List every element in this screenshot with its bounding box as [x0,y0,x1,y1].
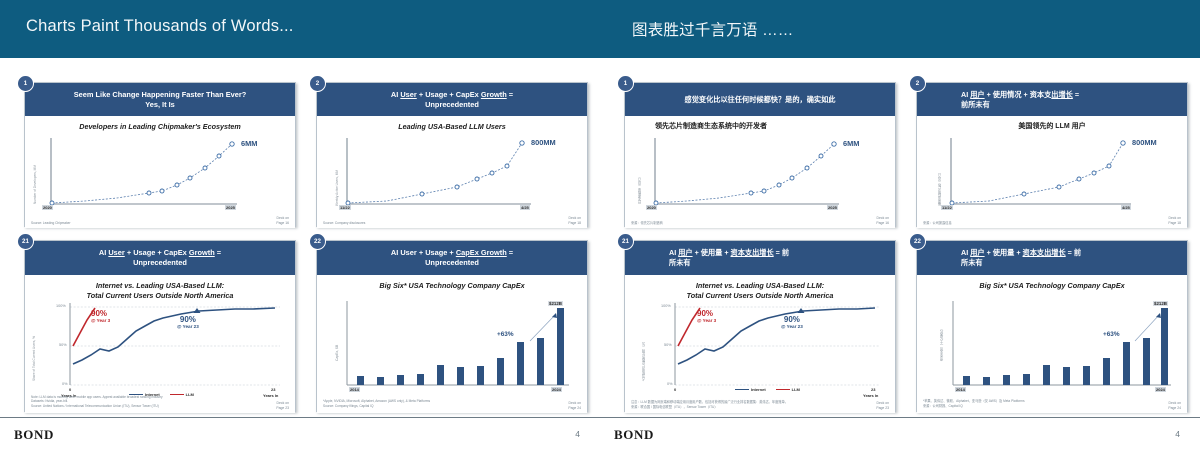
headline-part-mid: + 使用量 + [985,248,1023,257]
source-line2: Datasets: Nvidia, year-bill. [31,399,68,403]
annotation-subtext: @ Year 23 [177,324,199,329]
slide-headline-line2: Yes, It Is [145,100,175,109]
x-axis-start-tick: 2014 [955,387,966,392]
headline-part-post: = [507,90,513,99]
thumbnail-slide-1[interactable]: 1 Seem Like Change Happening Faster Than… [24,82,296,227]
x-axis-label-right: Years In [863,393,878,398]
headline-part-post: = [507,248,513,257]
annotation-internet-90pct: 90% @ Year 23 [781,315,803,329]
page-number: 4 [1175,429,1180,439]
headline-part-post: = [1073,90,1079,99]
deck-ref-line2: Page 24 [568,406,581,410]
headline-underline-2: 出增长 [1051,90,1073,99]
annotation-value: 90% [697,309,716,318]
y-tick-100: 100% [56,304,66,308]
source-line3: Source: United Nations / International T… [31,404,159,408]
annotation-internet-90pct: 90% @ Year 23 [177,315,199,329]
x-axis-label-right: Years In [263,393,278,398]
y-tick-50: 50% [664,343,672,347]
slide-headline: AI User + Usage + CapEx Growth = Unprece… [391,248,513,268]
slide-headline: 感觉变化比以往任何时候都快？是的，确实如此 [685,95,836,105]
deck-reference: Deck on Page 16 [276,216,289,226]
bar-value-label: $212B [548,301,563,306]
slide-badge: 2 [910,76,925,91]
x-axis-start-tick: 2014 [349,387,360,392]
growth-annotation: +63% [1103,331,1120,338]
slide-headline-line2: Unprecedented [425,258,479,267]
slide-header: AI 用户 + 使用量 + 资本支出增长 = 前 所未有 [625,241,895,275]
deck-ref-line1: Deck on [877,216,889,220]
slide-headline-line1: Seem Like Change Happening Faster Than E… [74,90,247,99]
slide-body: Internet vs. Leading USA-Based LLM: Tota… [25,275,295,413]
x-axis-end-tick: 4/25 [1121,205,1131,210]
headline-underline-2: 资本支出增长 [731,248,774,257]
headline-underline-1: 用户 [970,90,984,99]
page-banner-english: Charts Paint Thousands of Words... [0,0,600,58]
headline-underline-2: Growth [481,90,507,99]
deck-ref-line2: Page 16 [276,221,289,225]
x-axis-start-tick: 0 [674,387,676,392]
slide-headline-line2: 所未有 [669,258,691,267]
slide-badge: 22 [910,234,925,249]
x-axis-end-tick: 23 [271,387,275,392]
headline-part-pre: AI [669,248,678,257]
slide-body: Developers in Leading Chipmaker's Ecosys… [25,116,295,228]
deck-ref-line2: Page 18 [568,221,581,225]
slide-headline: AI 用户 + 使用量 + 资本支出增长 = 前 所未有 [641,248,879,267]
annotation-subtext: @ Year 23 [781,324,803,329]
source-line1: *Apple, NVIDIA, Microsoft, Alphabet, Ama… [323,399,430,403]
slide-body: Big Six* USA Technology Company CapEx 资本… [917,275,1187,413]
x-axis-end-tick: 23 [871,387,875,392]
page-footer-chinese: BOND 4 [600,417,1200,449]
source-line1: *苹果、英伟达、微软、Alphabet、亚马逊（仅 AWS）及 Meta Pla… [923,399,1025,403]
x-axis-end-tick: 2024 [1155,387,1166,392]
capex-bar-chart [317,275,589,413]
annotation-llm-90pct: 90% @ Year 3 [697,309,716,323]
headline-underline-1: User [108,248,124,257]
x-axis-start-tick: 0 [69,387,71,392]
deck-ref-line2: Page 23 [876,406,889,410]
deck-reference: Deck on Page 24 [568,401,581,411]
page-title: Charts Paint Thousands of Words... [26,17,294,36]
legend-item-internet: Internet [735,387,766,392]
exponential-scatter-chart [917,116,1187,228]
slide-badge: 1 [618,76,633,91]
headline-part-post: = 前 [1066,248,1081,257]
source-note: 来源：公司披露信息 [923,221,952,226]
legend-swatch-internet [735,389,749,391]
source-note: *苹果、英伟达、微软、Alphabet、亚马逊（仅 AWS）及 Meta Pla… [923,399,1025,409]
x-axis-start-tick: 11/22 [339,205,351,210]
thumbnail-slide-cn-2[interactable]: 2 AI 用户 + 使用情况 + 资本支出增长 = 前所未有 美国领先的 LLM… [916,82,1188,227]
slide-header: 感觉变化比以往任何时候都快？是的，确实如此 [625,83,895,116]
annotation-value: 90% [91,309,110,318]
deck-reference: Deck on Page 23 [276,401,289,411]
source-note: 注意：LLM 数据为网页端和移动端应用月度用户数，包括可获得的最广泛行业排名数据… [631,400,788,410]
headline-underline-1: 用户 [970,248,984,257]
deck-ref-line1: Deck on [569,216,581,220]
headline-part-pre: AI [391,90,400,99]
annotation-value: 90% [177,315,199,324]
page-title: 图表胜过千言万语 …… [632,18,794,40]
deck-ref-line2: Page 16 [876,221,889,225]
x-axis-start-tick: 11/22 [941,205,953,210]
thumbnail-slide-cn-21[interactable]: 21 AI 用户 + 使用量 + 资本支出增长 = 前 所未有 Internet… [624,240,896,412]
deck-ref-line1: Deck on [277,401,289,405]
slide-body: 领先芯片制造商生态系统中的开发者 开发者数量（百万） [625,116,895,228]
slide-headline: AI 用户 + 使用情况 + 资本支出增长 = 前所未有 [933,90,1171,109]
y-tick-50: 50% [59,343,67,347]
x-axis-end-tick: 2024 [551,387,562,392]
source-note: *Apple, NVIDIA, Microsoft, Alphabet, Ama… [323,399,430,409]
slide-header: AI User + Usage + CapEx Growth = Unprece… [317,241,587,275]
deck-ref-line1: Deck on [1169,401,1181,405]
deck-reference: Deck on Page 18 [1168,216,1181,226]
headline-part-post: = 前 [774,248,789,257]
slide-header: Seem Like Change Happening Faster Than E… [25,83,295,116]
y-tick-0: 0% [667,382,673,386]
legend-item-llm: LLM [776,387,800,392]
x-axis-start-tick: 2020 [42,205,53,210]
end-value-label: 800MM [1132,138,1157,147]
deck-reference: Deck on Page 18 [568,216,581,226]
chart-legend: Internet LLM [735,387,800,392]
slide-headline: AI User + Usage + CapEx Growth = Unprece… [391,90,513,110]
deck-reference: Deck on Page 16 [876,216,889,226]
slide-header: AI 用户 + 使用情况 + 资本支出增长 = 前所未有 [917,83,1187,116]
thumbnail-slide-cn-22[interactable]: 22 AI 用户 + 使用量 + 资本支出增长 = 前 所未有 Big Six*… [916,240,1188,412]
growth-annotation: +63% [497,331,514,338]
deck-ref-line1: Deck on [569,401,581,405]
slide-badge: 21 [618,234,633,249]
headline-part-mid: + 使用情况 + 资本支 [985,90,1052,99]
slide-badge: 22 [310,234,325,249]
slide-headline: Seem Like Change Happening Faster Than E… [74,90,247,110]
capex-bar-chart [917,275,1189,413]
source-line2: Source: Company filings, Capital IQ [323,404,374,408]
slide-headline-line2: 所未有 [961,258,983,267]
headline-part-pre: AI [99,248,108,257]
thumbnail-slide-cn-1[interactable]: 1 感觉变化比以往任何时候都快？是的，确实如此 领先芯片制造商生态系统中的开发者… [624,82,896,227]
exponential-scatter-chart [625,116,895,228]
source-line2: 来源：公司财报、Capital IQ [923,404,963,408]
slide-body: Big Six* USA Technology Company CapEx Ca… [317,275,587,413]
annotation-subtext: @ Year 3 [91,318,110,323]
headline-part-post: = [215,248,221,257]
slide-badge: 1 [18,76,33,91]
page-banner-chinese: 图表胜过千言万语 …… [600,0,1200,58]
headline-part-pre: AI [961,248,970,257]
slide-header: AI User + Usage + CapEx Growth = Unprece… [317,83,587,116]
end-value-label: 800MM [531,138,556,147]
deck-ref-line2: Page 24 [1168,406,1181,410]
y-tick-0: 0% [62,382,68,386]
page-footer-english: BOND 4 [0,417,600,449]
exponential-scatter-chart [317,116,587,228]
legend-label-llm: LLM [186,392,194,397]
end-value-label: 6MM [241,139,257,148]
headline-underline-1: User [400,90,416,99]
slide-headline-line2: 前所未有 [961,100,990,109]
source-line1: Note: LLM data is monthly web+mobile app… [31,395,163,399]
end-value-label: 6MM [843,139,859,148]
deck-ref-line2: Page 18 [1168,221,1181,225]
headline-underline-1: 用户 [678,248,692,257]
source-note: Source: Company disclosures [323,221,365,226]
legend-label-internet: Internet [751,387,766,392]
slide-body: Internet vs. Leading USA-Based LLM: Tota… [625,275,895,413]
slide-badge: 2 [310,76,325,91]
slide-header: AI User + Usage + CapEx Growth = Unprece… [25,241,295,275]
headline-part-mid: + Usage + CapEx [125,248,189,257]
deck-reference: Deck on Page 23 [876,401,889,411]
chinese-slide-page: 图表胜过千言万语 …… 1 感觉变化比以往任何时候都快？是的，确实如此 领先芯片… [600,0,1200,449]
thumbnail-slide-2[interactable]: 2 AI User + Usage + CapEx Growth = Unpre… [316,82,588,227]
bond-logo: BOND [14,427,54,443]
thumbnail-slide-21[interactable]: 21 AI User + Usage + CapEx Growth = Unpr… [24,240,296,412]
slide-headline: AI User + Usage + CapEx Growth = Unprece… [99,248,221,268]
headline-part-mid: + Usage + CapEx [417,90,481,99]
source-note: 来源：领先芯片制造商 [631,221,663,226]
headline-part-mid: + 使用量 + [693,248,731,257]
deck-reference: Deck on Page 24 [1168,401,1181,411]
bond-logo: BOND [614,427,654,443]
deck-ref-line1: Deck on [277,216,289,220]
x-axis-start-tick: 2020 [646,205,657,210]
headline-underline-1: CapEx Growth [456,248,507,257]
annotation-subtext: @ Year 3 [697,318,716,323]
page-number: 4 [575,429,580,439]
source-note: Note: LLM data is monthly web+mobile app… [31,395,163,409]
annotation-value: 90% [781,315,803,324]
headline-part-pre: AI [961,90,970,99]
source-line1: 注意：LLM 数据为网页端和移动端应用月度用户数，包括可获得的最广泛行业排名数据… [631,400,788,404]
slide-headline-line2: Unprecedented [425,100,479,109]
slide-header: AI 用户 + 使用量 + 资本支出增长 = 前 所未有 [917,241,1187,275]
slide-headline: AI 用户 + 使用量 + 资本支出增长 = 前 所未有 [933,248,1171,267]
slide-body: 美国领先的 LLM 用户 每周活跃用户数（百万） [917,116,1187,228]
exponential-scatter-chart [25,116,295,228]
bar-value-label: $212B [1153,301,1168,306]
headline-part-pre: AI User + Usage + [391,248,456,257]
slide-headline-line2: Unprecedented [133,258,187,267]
legend-swatch-llm [170,394,184,396]
x-axis-end-tick: 2025 [827,205,838,210]
legend-label-llm: LLM [792,387,800,392]
source-line2: 来源：联合国 / 国际电信联盟（ITU），Sensor Tower（ITU） [631,405,718,409]
thumbnail-slide-22[interactable]: 22 AI User + Usage + CapEx Growth = Unpr… [316,240,588,412]
deck-ref-line2: Page 23 [276,406,289,410]
headline-underline-2: Growth [189,248,215,257]
x-axis-end-tick: 4/25 [520,205,530,210]
deck-ref-line1: Deck on [877,401,889,405]
annotation-llm-90pct: 90% @ Year 3 [91,309,110,323]
headline-underline-2: 资本支出增长 [1023,248,1066,257]
y-tick-100: 100% [661,304,671,308]
legend-swatch-llm [776,389,790,391]
slide-badge: 21 [18,234,33,249]
slide-body: Leading USA-Based LLM Users Weekly Activ… [317,116,587,228]
source-note: Source: Leading Chipmaker [31,221,71,226]
legend-item-llm: LLM [170,392,194,397]
deck-ref-line1: Deck on [1169,216,1181,220]
english-slide-page: Charts Paint Thousands of Words... 1 See… [0,0,600,449]
x-axis-end-tick: 2025 [225,205,236,210]
slide-deck-comparison: Charts Paint Thousands of Words... 1 See… [0,0,1200,449]
